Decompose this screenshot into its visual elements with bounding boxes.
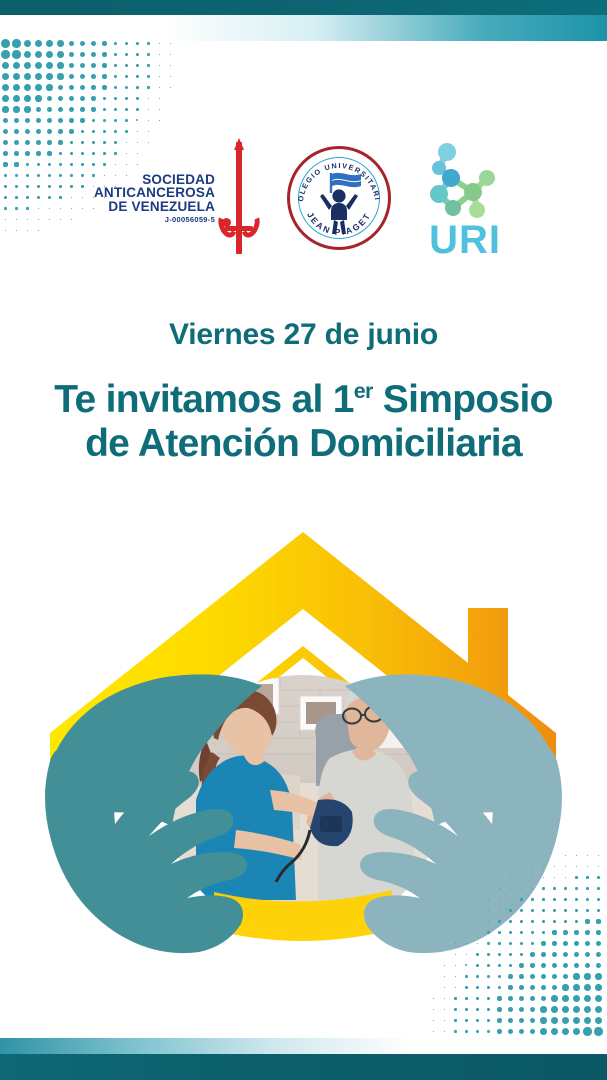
bottom-bar-solid (0, 1054, 607, 1080)
uri-wordmark: URI (417, 220, 513, 260)
sav-line-3: DE VENEZUELA (94, 200, 215, 214)
flyer-canvas: SOCIEDAD ANTICANCEROSA DE VENEZUELA J-00… (0, 0, 607, 1080)
title-line-1-after: Simposio (373, 378, 553, 421)
title-line-1: Te invitamos al 1er Simposio (0, 378, 607, 422)
sav-line-1: SOCIEDAD (94, 173, 215, 187)
logo-colegio-jean-piaget: COLEGIO UNIVERSITARIO JEAN PIAGET (287, 146, 391, 250)
event-date: Viernes 27 de junio (0, 318, 607, 352)
piaget-flag-icon (331, 173, 361, 193)
halftone-dots-bottom-right (417, 839, 607, 1054)
sav-line-2: ANTICANCEROSA (94, 186, 215, 200)
piaget-seal-graphic: COLEGIO UNIVERSITARIO JEAN PIAGET (287, 146, 391, 250)
sav-wordmark: SOCIEDAD ANTICANCEROSA DE VENEZUELA J-00… (94, 173, 215, 224)
uri-molecule-icon (417, 138, 513, 222)
logo-sociedad-anticancerosa: SOCIEDAD ANTICANCEROSA DE VENEZUELA J-00… (94, 138, 261, 258)
page-title: Te invitamos al 1er Simposio de Atención… (0, 378, 607, 467)
sav-rif-number: J-00056059-5 (94, 216, 215, 224)
title-line-2: de Atención Domiciliaria (0, 422, 607, 466)
top-bar-solid (0, 0, 607, 15)
title-ordinal-suffix: er (354, 379, 373, 403)
logo-uri: URI (417, 138, 513, 258)
logo-row: SOCIEDAD ANTICANCEROSA DE VENEZUELA J-00… (0, 128, 607, 268)
sword-crab-icon (217, 138, 261, 258)
title-line-1-before: Te invitamos al 1 (54, 378, 354, 421)
bottom-bar-gradient (0, 1038, 607, 1054)
